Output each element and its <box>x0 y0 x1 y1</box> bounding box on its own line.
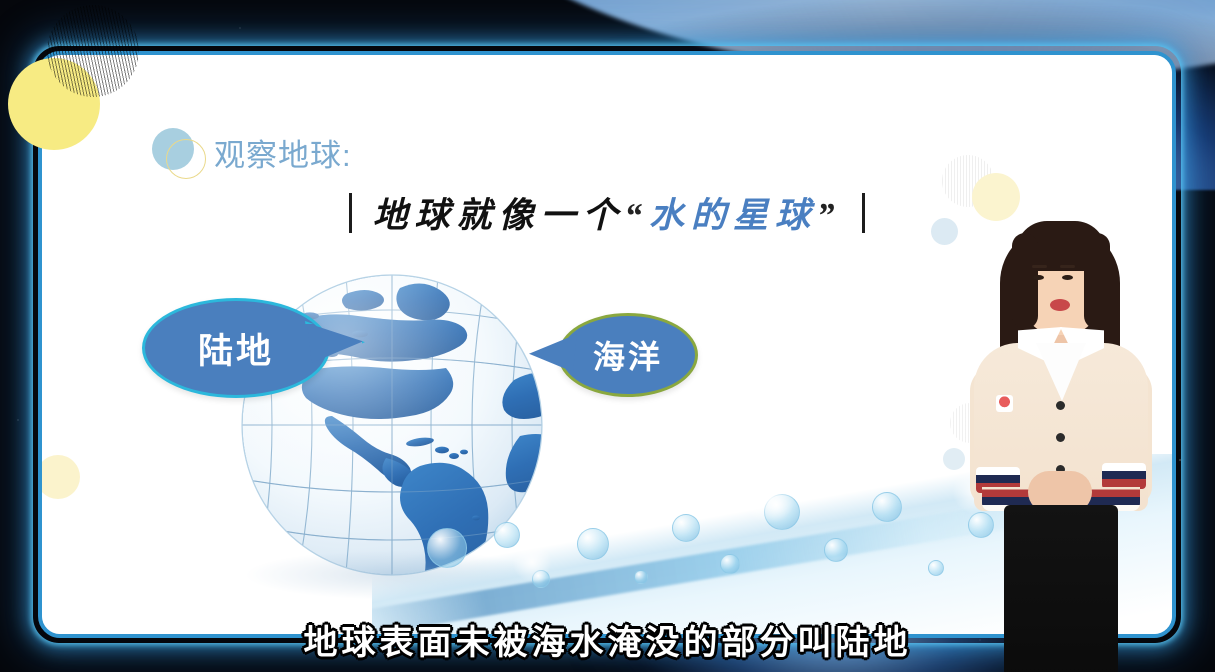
presenter-button <box>1056 433 1065 442</box>
water-bubble <box>928 560 944 576</box>
presenter-badge-icon <box>996 395 1013 412</box>
slide-stage: 观察地球: 地球就像一个“水的星球” <box>0 0 1215 672</box>
presenter-button <box>1056 401 1065 410</box>
presenter-eye-right <box>1062 275 1073 280</box>
water-bubble <box>494 522 520 548</box>
title-highlight: 水的星球 <box>649 196 817 235</box>
title-bar-right <box>862 193 865 233</box>
water-bubble <box>634 570 648 584</box>
page-title: 观察地球: <box>214 130 352 175</box>
subtitle-caption: 地球表面未被海水淹没的部分叫陆地 <box>0 615 1215 664</box>
title-bar-left <box>349 193 352 233</box>
presenter-brow-right <box>1060 265 1075 268</box>
water-bubble <box>720 554 740 574</box>
callout-ocean[interactable]: 海洋 <box>558 313 698 397</box>
presenter-hair-right <box>1084 233 1110 329</box>
presenter-mouth <box>1050 299 1070 311</box>
water-bubble <box>824 538 848 562</box>
presenter-video-cutout <box>952 215 1167 672</box>
presenter-eye-left <box>1033 275 1044 280</box>
water-sparkle <box>742 470 796 524</box>
title-text: 地球就像一个“水的星球” <box>372 187 841 238</box>
deco-hatched-circle-top-left <box>47 5 139 97</box>
deco-yellow-circle-left <box>42 455 80 499</box>
title-plain: 地球就像一个 <box>372 196 624 235</box>
presenter-hair-left <box>1012 233 1038 329</box>
callout-ocean-label: 海洋 <box>593 332 663 378</box>
title-quote-close: ” <box>817 196 842 235</box>
title-quote-open: “ <box>625 196 650 235</box>
water-bubble <box>427 528 467 568</box>
callout-land[interactable]: 陆地 <box>142 298 330 398</box>
water-bubble <box>577 528 609 560</box>
callout-land-label: 陆地 <box>198 323 274 374</box>
water-bubble <box>672 514 700 542</box>
presenter-brow-left <box>1032 265 1047 268</box>
water-bubble <box>872 492 902 522</box>
presenter-cuff-right <box>1102 463 1146 489</box>
header-bullet-ring-icon <box>166 139 206 179</box>
water-sparkle <box>512 542 552 582</box>
